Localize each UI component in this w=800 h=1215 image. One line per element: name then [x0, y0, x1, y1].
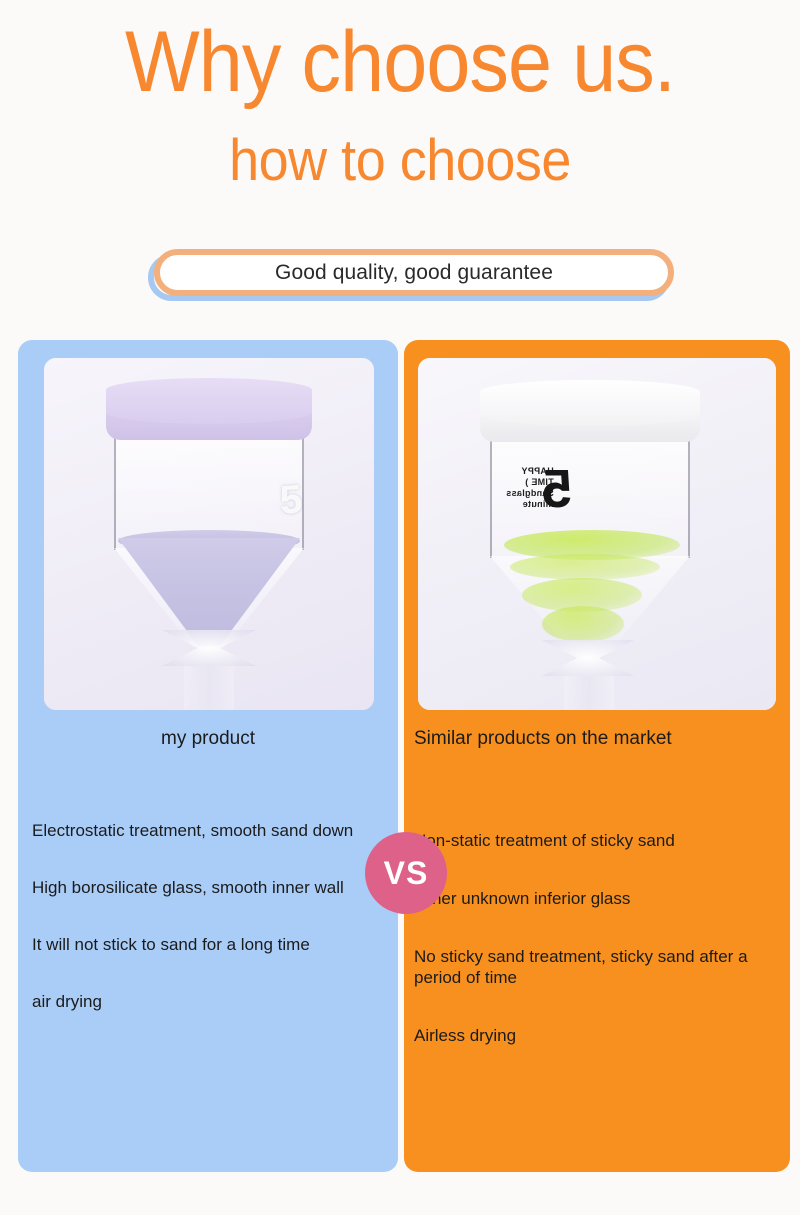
vs-badge: VS — [365, 832, 447, 914]
hourglass-embossed-number-left: 5 — [278, 477, 303, 523]
hourglass-lid-top-right — [480, 380, 700, 426]
page-title: Why choose us. — [32, 14, 768, 110]
panel-market-product: HAPPY TIME ) Sandglass minute 5 Similar … — [404, 340, 790, 1172]
feature-list-right: Non-static treatment of sticky sand Othe… — [414, 830, 790, 1083]
banner-label: Good quality, good guarantee — [154, 249, 674, 296]
feature-item: Airless drying — [414, 1025, 790, 1046]
feature-item: air drying — [32, 991, 398, 1012]
comparison-section: 5 my product Electrostatic treatment, sm… — [0, 340, 800, 1175]
feature-item: No sticky sand treatment, sticky sand af… — [414, 946, 790, 988]
caption-market-product: Similar products on the market — [414, 728, 790, 750]
promo-page: Why choose us. how to choose Good qualit… — [0, 0, 800, 1215]
hourglass-lid-top — [106, 378, 312, 424]
guarantee-banner: Good quality, good guarantee — [148, 249, 674, 301]
feature-item: Non-static treatment of sticky sand — [414, 830, 790, 851]
panel-my-product: 5 my product Electrostatic treatment, sm… — [18, 340, 398, 1172]
hourglass-sand-left — [118, 538, 300, 646]
product-photo-right: HAPPY TIME ) Sandglass minute 5 — [418, 358, 776, 710]
hourglass-right-image: HAPPY TIME ) Sandglass minute 5 — [418, 358, 776, 710]
feature-item: High borosilicate glass, smooth inner wa… — [32, 877, 398, 898]
feature-list-left: Electrostatic treatment, smooth sand dow… — [32, 820, 398, 1048]
hourglass-left-image: 5 — [44, 358, 374, 710]
feature-item: It will not stick to sand for a long tim… — [32, 934, 398, 955]
feature-item: Electrostatic treatment, smooth sand dow… — [32, 820, 398, 841]
hourglass-neck-right — [542, 640, 634, 676]
product-photo-left: 5 — [44, 358, 374, 710]
sticky-sand-residue — [542, 606, 624, 642]
sticky-sand-residue — [510, 554, 660, 580]
caption-my-product: my product — [18, 728, 398, 750]
printed-number-right: 5 — [542, 462, 572, 516]
feature-item: Other unknown inferior glass — [414, 888, 790, 909]
page-subtitle: how to choose — [28, 128, 772, 194]
hourglass-neck-left — [162, 630, 256, 666]
